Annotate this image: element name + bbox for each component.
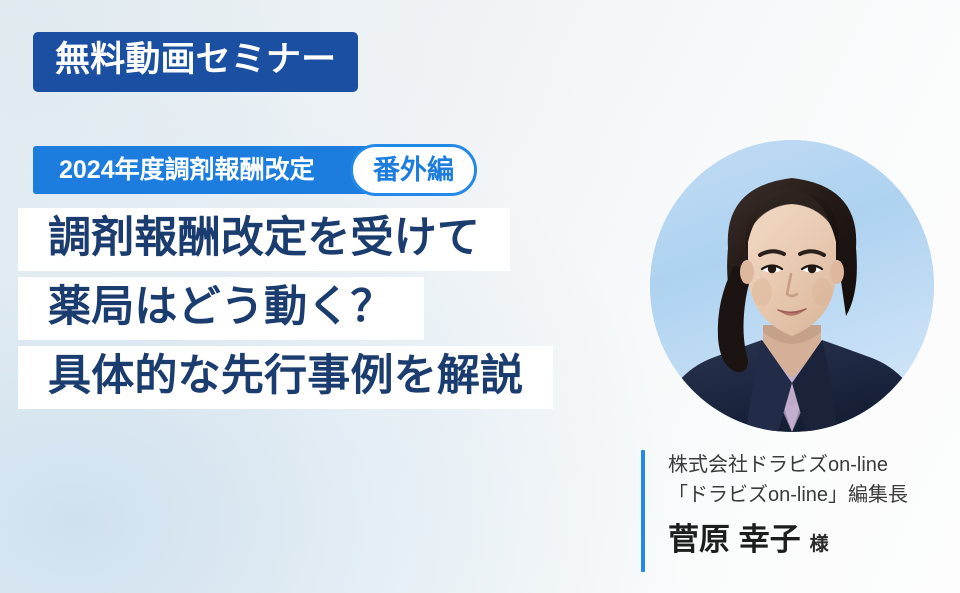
- speaker-info: 株式会社ドラビズon-line 「ドラビズon-line」編集長 菅原 幸子 様: [641, 450, 908, 572]
- revision-badge: 2024年度調剤報酬改定: [33, 146, 377, 194]
- extra-edition-pill: 番外編: [350, 144, 477, 196]
- revision-badge-label: 2024年度調剤報酬改定: [59, 158, 315, 183]
- headline-line-1: 調剤報酬改定を受けて: [18, 208, 510, 271]
- extra-edition-pill-label: 番外編: [373, 157, 454, 184]
- portrait-illustration: [650, 140, 934, 432]
- seminar-badge-label: 無料動画セミナー: [55, 42, 336, 79]
- seminar-promo-banner: 無料動画セミナー 2024年度調剤報酬改定 番外編 調剤報酬改定を受けて 薬局は…: [0, 0, 960, 593]
- speaker-org-line-2: 「ドラビズon-line」編集長: [668, 480, 908, 510]
- speaker-portrait: [650, 140, 934, 432]
- revision-badge-row: 2024年度調剤報酬改定 番外編: [33, 146, 377, 194]
- headline-line-3: 具体的な先行事例を解説: [18, 346, 553, 409]
- speaker-name: 菅原 幸子: [668, 523, 801, 557]
- speaker-name-row: 菅原 幸子 様: [668, 523, 908, 557]
- speaker-org-line-1: 株式会社ドラビズon-line: [668, 450, 908, 480]
- headline-line-2: 薬局はどう動く？: [18, 277, 424, 340]
- seminar-badge: 無料動画セミナー: [33, 32, 358, 92]
- headline-line-2-text: 薬局はどう動く？: [48, 283, 394, 331]
- speaker-accent-bar: [641, 450, 645, 572]
- speaker-honorific: 様: [810, 529, 829, 556]
- headline-line-3-text: 具体的な先行事例を解説: [48, 352, 523, 400]
- headline-line-1-text: 調剤報酬改定を受けて: [48, 214, 480, 262]
- headline: 調剤報酬改定を受けて 薬局はどう動く？ 具体的な先行事例を解説: [18, 208, 553, 409]
